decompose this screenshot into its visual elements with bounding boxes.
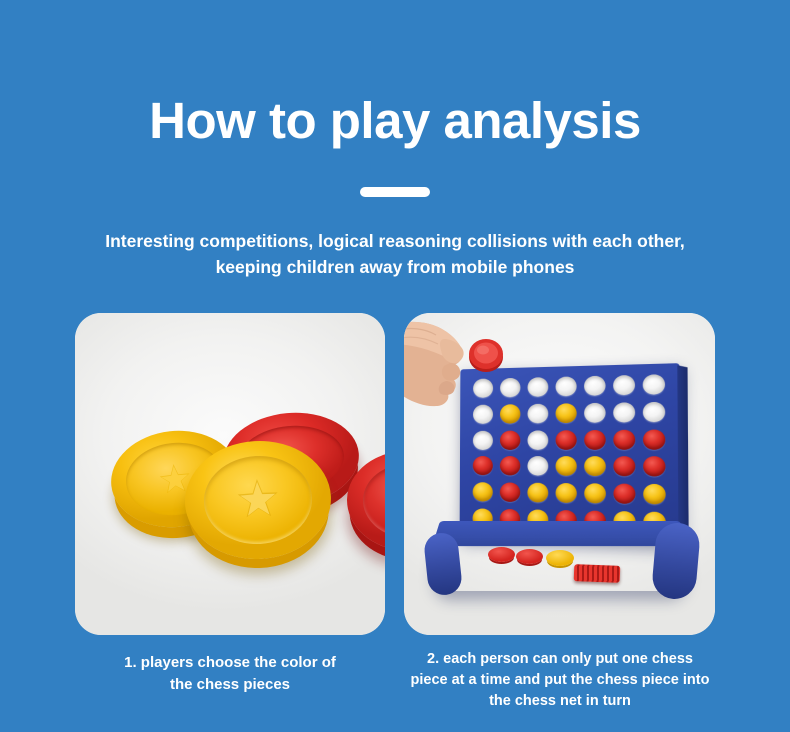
hand-holding-disc [404, 317, 532, 433]
board-cell-r1-c7 [639, 371, 669, 399]
board-hole-red [643, 429, 666, 449]
caption-step-2: 2. each person can only put one chess pi… [386, 649, 734, 712]
board-cell-r5-c6 [610, 480, 640, 508]
tray-disc-red-2 [516, 549, 543, 564]
board-cell-r4-c3 [524, 453, 552, 479]
board-cell-r1-c6 [610, 372, 640, 400]
page-subtitle: Interesting competitions, logical reason… [45, 228, 745, 280]
release-slider [574, 564, 621, 583]
board-hole-red [500, 430, 520, 449]
board-hole-yellow [584, 456, 606, 476]
board-cell-r2-c7 [639, 398, 669, 426]
board-panel-edge [677, 365, 688, 539]
board-hole-red [556, 430, 577, 450]
board-hole-yellow [584, 483, 606, 503]
board-cell-r2-c4 [552, 400, 581, 427]
board-cell-r5-c5 [581, 480, 610, 507]
board-hole-white [613, 375, 635, 395]
board-hole-white [643, 375, 665, 396]
board-cell-r5-c1 [469, 479, 496, 505]
page-title: How to play analysis [0, 92, 790, 150]
infographic-page: How to play analysis Interesting competi… [0, 0, 790, 732]
board-cell-r1-c5 [580, 372, 609, 399]
board-cell-r3-c5 [580, 426, 609, 453]
board-cell-r4-c1 [469, 453, 496, 479]
board-cell-r3-c6 [610, 426, 640, 453]
board-hole-white [584, 376, 606, 396]
base-rail-right [651, 521, 701, 601]
game-pieces-photo-card [75, 313, 385, 635]
game-board-photo-card [404, 313, 715, 635]
caption-2-line-1: 2. each person can only put one chess [386, 649, 734, 670]
board-hole-red [614, 457, 636, 477]
board-hole-white [643, 402, 666, 422]
caption-1-line-1: 1. players choose the color of [60, 652, 400, 674]
board-hole-yellow [644, 484, 667, 505]
caption-2-line-2: piece at a time and put the chess piece … [386, 670, 734, 691]
base-top-surface [432, 521, 688, 546]
tray-disc-yellow-1 [546, 550, 574, 566]
board-hole-yellow [472, 482, 492, 501]
subtitle-line-1: Interesting competitions, logical reason… [105, 231, 685, 251]
board-cell-r2-c6 [610, 399, 640, 426]
connect-four-board [404, 313, 715, 635]
board-cell-r5-c7 [640, 480, 671, 508]
board-cell-r3-c7 [639, 426, 669, 453]
board-cell-r4-c6 [610, 453, 640, 480]
board-cell-r4-c5 [581, 453, 610, 480]
board-cell-r3-c4 [552, 426, 581, 453]
board-cell-r4-c4 [552, 453, 581, 480]
tray-disc-red-1 [488, 547, 515, 562]
board-hole-red [584, 430, 606, 450]
subtitle-line-2: keeping children away from mobile phones [45, 254, 745, 280]
caption-2-line-3: the chess net in turn [386, 691, 734, 712]
game-board-photo [404, 313, 715, 635]
board-cell-r5-c3 [524, 479, 552, 506]
board-cell-r4-c2 [496, 453, 524, 479]
board-hole-red [614, 429, 636, 449]
board-cell-r5-c4 [552, 479, 581, 506]
board-hole-red [643, 457, 666, 477]
board-hole-white [527, 456, 548, 476]
board-hole-yellow [527, 483, 548, 503]
board-hole-yellow [556, 456, 577, 476]
board-hole-red [500, 456, 520, 475]
board-cell-r2-c5 [580, 399, 609, 426]
board-hole-yellow [556, 483, 577, 503]
board-cell-r1-c4 [552, 373, 581, 400]
board-cell-r4-c7 [640, 453, 671, 481]
held-disc [469, 339, 503, 372]
board-hole-white [556, 377, 577, 397]
title-divider [360, 187, 430, 197]
board-hole-red [499, 482, 520, 502]
board-base [426, 521, 694, 603]
game-pieces-photo [75, 313, 385, 635]
board-cell-r5-c2 [496, 479, 524, 506]
board-hole-red [472, 456, 492, 475]
board-hole-white [472, 430, 492, 449]
board-hole-white [584, 403, 606, 423]
board-hole-red [614, 484, 636, 504]
caption-1-line-2: the chess pieces [60, 674, 400, 696]
board-hole-white [613, 402, 635, 422]
caption-step-1: 1. players choose the color of the chess… [60, 652, 400, 696]
board-hole-yellow [556, 403, 577, 423]
